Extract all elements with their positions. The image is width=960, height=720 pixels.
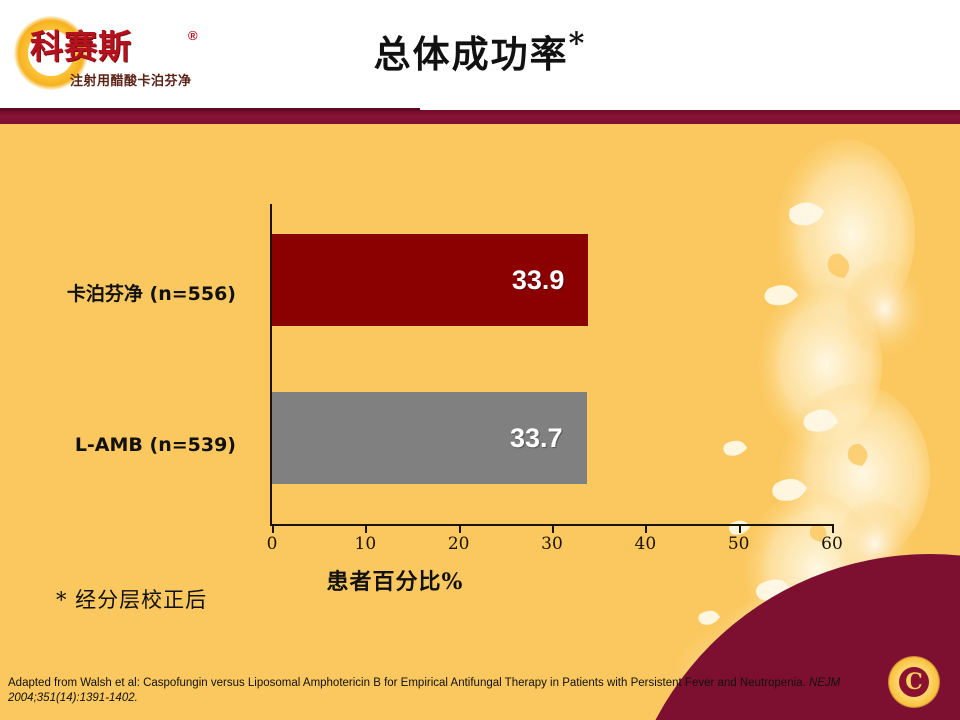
bar-value-lamb: 33.7 [510,423,587,454]
citation-text: Adapted from Walsh et al: Caspofungin ve… [8,676,848,706]
bar-chart: 卡泊芬净 (n=556) L-AMB (n=539) 33.9 33.7 010… [0,124,960,720]
x-tick-50 [739,524,741,533]
x-tick-20 [459,524,461,533]
bar-value-caspofungin: 33.9 [512,265,589,296]
brand-logo: 科赛斯 ® 注射用醋酸卡泊芬净 [12,14,222,100]
x-tick-label-50: 50 [728,534,750,554]
x-tick-10 [365,524,367,533]
x-tick-label-40: 40 [635,534,657,554]
category-label-caspofungin: 卡泊芬净 (n=556) [67,279,236,306]
x-tick-30 [552,524,554,533]
brand-name-cn: 科赛斯 [30,30,210,63]
x-tick-40 [645,524,647,533]
bar-caspofungin: 33.9 [272,234,588,326]
registered-trademark-icon: ® [188,28,198,43]
slide-root: 科赛斯 ® 注射用醋酸卡泊芬净 总体成功率* 卡泊芬净 (n=556) L-AM… [0,0,960,720]
page-title-text: 总体成功率 [374,32,569,76]
citation-line1: Adapted from Walsh et al: Caspofungin ve… [8,677,714,689]
x-axis [270,524,832,526]
page-title-asterisk: * [569,27,587,62]
bar-lamb: 33.7 [272,392,587,484]
x-tick-label-60: 60 [821,534,843,554]
y-axis [270,204,272,524]
header-rule [0,110,960,124]
x-tick-label-10: 10 [355,534,377,554]
corner-badge-logo: C [888,656,940,708]
x-tick-label-20: 20 [448,534,470,554]
chart-footnote: * 经分层校正后 [56,584,207,614]
citation-block: Adapted from Walsh et al: Caspofungin ve… [0,672,960,720]
badge-letter: C [899,667,929,697]
category-label-lamb: L-AMB (n=539) [75,434,236,456]
x-tick-label-30: 30 [541,534,563,554]
citation-line2: and Neutropenia. [718,677,809,689]
x-tick-60 [832,524,834,533]
x-tick-0 [272,524,274,533]
brand-subtitle: 注射用醋酸卡泊芬净 [70,70,192,89]
header-rule-highlight [0,108,420,111]
x-tick-label-0: 0 [267,534,278,554]
